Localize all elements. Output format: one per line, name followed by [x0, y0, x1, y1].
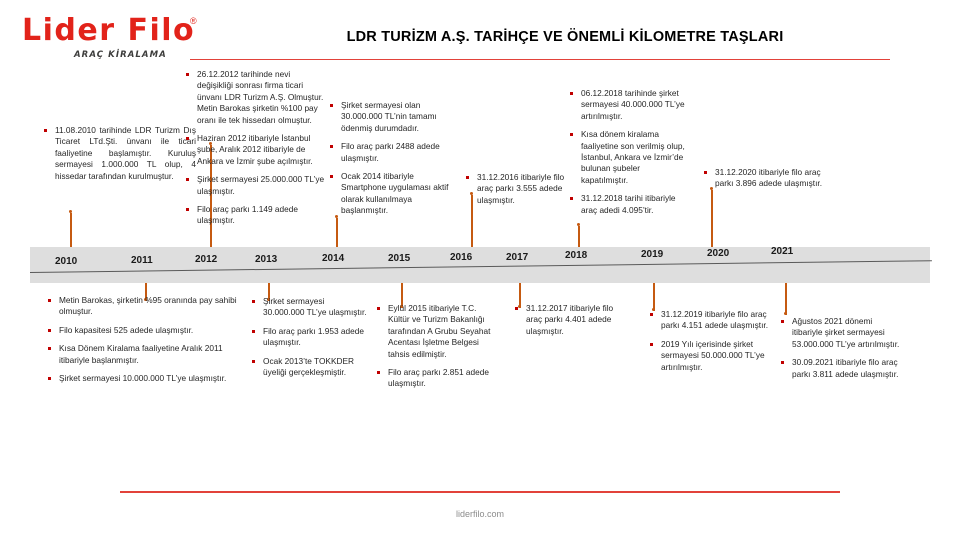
event-item: Filo araç parkı 1.953 adede ulaşmıştır. — [252, 326, 368, 349]
event-item: 30.09.2021 itibariyle filo araç parkı 3.… — [781, 357, 903, 380]
timeline-year-2013: 2013 — [255, 254, 277, 265]
event-item: Kısa dönem kiralama faaliyetine son veri… — [570, 129, 686, 186]
event-item: Filo kapasitesi 525 adede ulaşmıştır. — [48, 325, 238, 336]
event-list-2014: Şirket sermayesi olan 30.000.000 TL’nin … — [330, 100, 458, 217]
event-item: 26.12.2012 tarihinde nevi değişikliği so… — [186, 69, 326, 126]
event-item: 06.12.2018 tarihinde şirket sermayesi 40… — [570, 88, 686, 122]
event-item: Filo araç parkı 2.851 adede ulaşmıştır. — [377, 367, 499, 390]
event-item: 31.12.2020 itibariyle filo araç parkı 3.… — [704, 167, 824, 190]
event-item: Kısa Dönem Kiralama faaliyetine Aralık 2… — [48, 343, 238, 366]
event-block-2010: 11.08.2010 tarihinde LDR Turizm Dış Tica… — [44, 125, 196, 182]
event-block-2017: 31.12.2017 itibariyle filo araç parkı 4.… — [515, 303, 630, 337]
stem-dot-2010 — [69, 210, 72, 213]
event-item: 2019 Yılı içerisinde şirket sermayesi 50… — [650, 339, 768, 373]
event-list-2012: 26.12.2012 tarihinde nevi değişikliği so… — [186, 69, 326, 227]
event-list-2021: Ağustos 2021 dönemi itibariyle şirket se… — [781, 316, 903, 380]
event-list-2017: 31.12.2017 itibariyle filo araç parkı 4.… — [515, 303, 630, 337]
logo-tagline: ARAÇ KİRALAMA — [74, 50, 167, 60]
registered-trademark-icon: ® — [190, 16, 197, 26]
stem-dot-2021 — [784, 312, 787, 315]
event-item: Filo araç parkı 2488 adede ulaşmıştır. — [330, 141, 458, 164]
event-item: Şirket sermayesi 10.000.000 TL’ye ulaşmı… — [48, 373, 238, 384]
event-item: 31.12.2018 tarihi itibariyle araç adedi … — [570, 193, 686, 216]
footer-divider — [120, 491, 840, 493]
event-list-2019: 31.12.2019 itibariyle filo araç parkı 4.… — [650, 309, 768, 373]
event-item: Eylül 2015 itibariyle T.C. Kültür ve Tur… — [377, 303, 499, 360]
footer-url: liderfilo.com — [0, 509, 960, 519]
event-block-2013: Şirket sermayesi 30.000.000 TL’ye ulaşmı… — [252, 296, 368, 378]
event-list-2020: 31.12.2020 itibariyle filo araç parkı 3.… — [704, 167, 824, 190]
event-list-2013: Şirket sermayesi 30.000.000 TL’ye ulaşmı… — [252, 296, 368, 378]
timeline-year-2016: 2016 — [450, 252, 472, 263]
event-block-2021: Ağustos 2021 dönemi itibariyle şirket se… — [781, 316, 903, 380]
timeline-year-2020: 2020 — [707, 248, 729, 259]
event-item: Metin Barokas, şirketin %95 oranında pay… — [48, 295, 238, 318]
event-list-2016: 31.12.2016 itibariyle filo araç parkı 3.… — [466, 172, 576, 206]
stem-dot-2018 — [577, 223, 580, 226]
timeline-year-2011: 2011 — [131, 255, 153, 266]
event-list-2011: Metin Barokas, şirketin %95 oranında pay… — [48, 295, 238, 384]
event-item: Ağustos 2021 dönemi itibariyle şirket se… — [781, 316, 903, 350]
timeline-band — [30, 247, 930, 283]
event-item: Ocak 2014 itibariyle Smartphone uygulama… — [330, 171, 458, 217]
event-item: Şirket sermayesi 25.000.000 TL’ye ulaşmı… — [186, 174, 326, 197]
event-block-2012: 26.12.2012 tarihinde nevi değişikliği so… — [186, 69, 326, 227]
timeline-year-2021: 2021 — [771, 246, 793, 257]
event-item: Haziran 2012 itibariyle İstanbul şube, A… — [186, 133, 326, 167]
logo-word-lider: Lider — [22, 13, 116, 48]
timeline-year-2018: 2018 — [565, 250, 587, 261]
event-list-2010: 11.08.2010 tarihinde LDR Turizm Dış Tica… — [44, 125, 196, 182]
brand-logo: Lider Filo ® ARAÇ KİRALAMA — [18, 14, 208, 60]
page-title: LDR TURİZM A.Ş. TARİHÇE VE ÖNEMLİ KİLOME… — [300, 29, 830, 45]
timeline-year-2019: 2019 — [641, 249, 663, 260]
event-list-2018: 06.12.2018 tarihinde şirket sermayesi 40… — [570, 88, 686, 216]
stem-2019 — [653, 283, 655, 311]
event-item: Ocak 2013’te TOKKDER üyeliği gerçekleşmi… — [252, 356, 368, 379]
logo-wordmark: Lider Filo — [22, 16, 195, 46]
timeline-year-2010: 2010 — [55, 256, 77, 267]
stem-2020 — [711, 190, 713, 247]
slide-canvas: Lider Filo ® ARAÇ KİRALAMA LDR TURİZM A.… — [0, 0, 960, 540]
event-item: 31.12.2019 itibariyle filo araç parkı 4.… — [650, 309, 768, 332]
stem-2010 — [70, 213, 72, 247]
title-divider — [190, 59, 890, 60]
event-list-2015: Eylül 2015 itibariyle T.C. Kültür ve Tur… — [377, 303, 499, 390]
event-item: Filo araç parkı 1.149 adede ulaşmıştır. — [186, 204, 326, 227]
event-block-2014: Şirket sermayesi olan 30.000.000 TL’nin … — [330, 100, 458, 217]
stem-2014 — [336, 218, 338, 247]
event-item: 11.08.2010 tarihinde LDR Turizm Dış Tica… — [44, 125, 196, 182]
event-block-2015: Eylül 2015 itibariyle T.C. Kültür ve Tur… — [377, 303, 499, 390]
event-block-2020: 31.12.2020 itibariyle filo araç parkı 3.… — [704, 167, 824, 190]
timeline-year-2012: 2012 — [195, 254, 217, 265]
stem-2018 — [578, 226, 580, 247]
event-item: Şirket sermayesi olan 30.000.000 TL’nin … — [330, 100, 458, 134]
logo-word-filo: Filo — [127, 13, 195, 48]
event-item: 31.12.2017 itibariyle filo araç parkı 4.… — [515, 303, 630, 337]
stem-2021 — [785, 283, 787, 315]
timeline-year-2015: 2015 — [388, 253, 410, 264]
event-block-2018: 06.12.2018 tarihinde şirket sermayesi 40… — [570, 88, 686, 216]
event-block-2016: 31.12.2016 itibariyle filo araç parkı 3.… — [466, 172, 576, 206]
timeline-year-2014: 2014 — [322, 253, 344, 264]
event-item: Şirket sermayesi 30.000.000 TL’ye ulaşmı… — [252, 296, 368, 319]
event-item: 31.12.2016 itibariyle filo araç parkı 3.… — [466, 172, 576, 206]
event-block-2019: 31.12.2019 itibariyle filo araç parkı 4.… — [650, 309, 768, 373]
event-block-2011: Metin Barokas, şirketin %95 oranında pay… — [48, 295, 238, 384]
timeline-year-2017: 2017 — [506, 252, 528, 263]
